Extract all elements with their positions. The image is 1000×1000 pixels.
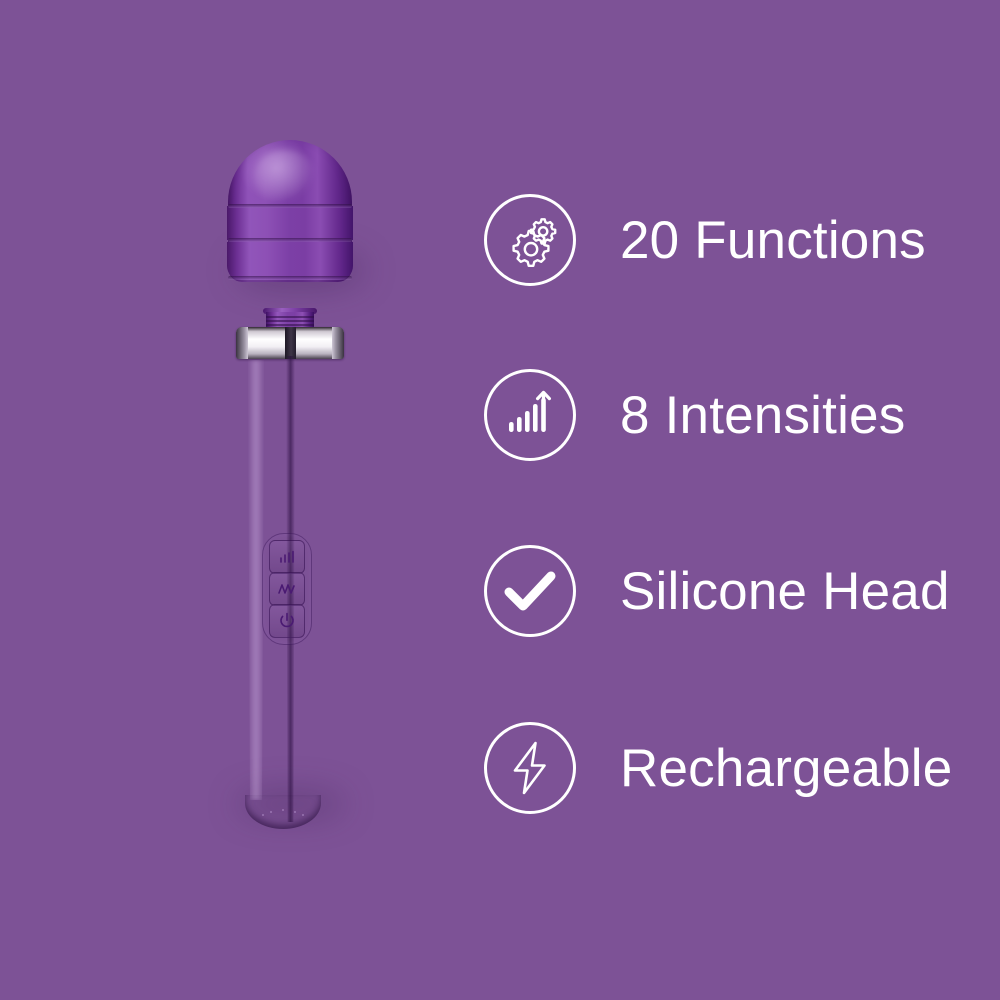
ribbed-ring-band — [227, 206, 353, 240]
ring-groove-upper — [228, 204, 352, 208]
feature-item-silicone-head: Silicone Head — [484, 545, 950, 637]
lightning-bolt-icon — [484, 722, 576, 814]
chrome-left-edge — [236, 327, 248, 359]
feature-item-intensities: 8 Intensities — [484, 369, 905, 461]
feature-label-functions: 20 Functions — [620, 214, 926, 267]
ascending-bars-arrow-icon — [484, 369, 576, 461]
chrome-center-stripe — [285, 327, 296, 359]
ribbed-ring-band-lower — [227, 242, 353, 280]
neck-thread-1 — [266, 316, 314, 318]
power-icon — [278, 612, 296, 630]
gears-icon — [484, 194, 576, 286]
checkmark-icon — [484, 545, 576, 637]
feature-item-functions: 20 Functions — [484, 194, 926, 286]
feature-label-rechargeable: Rechargeable — [620, 742, 952, 795]
chrome-right-edge — [332, 327, 344, 359]
dome-highlight — [254, 150, 316, 204]
power-button[interactable] — [269, 604, 305, 638]
pattern-button[interactable] — [269, 572, 305, 606]
feature-list: 20 Functions 8 Intensities — [470, 0, 1000, 1000]
feature-item-rechargeable: Rechargeable — [484, 722, 952, 814]
signal-bars-icon — [277, 549, 297, 565]
neck-thread-2 — [266, 320, 314, 322]
feature-label-silicone-head: Silicone Head — [620, 565, 950, 618]
tapered-collar — [248, 278, 332, 312]
wave-icon — [276, 581, 298, 597]
product-feature-graphic: 20 Functions 8 Intensities — [0, 0, 1000, 1000]
neck-thread-3 — [266, 324, 314, 326]
intensity-button[interactable] — [269, 540, 305, 574]
feature-label-intensities: 8 Intensities — [620, 389, 905, 442]
base-embossed-markings — [255, 806, 311, 822]
